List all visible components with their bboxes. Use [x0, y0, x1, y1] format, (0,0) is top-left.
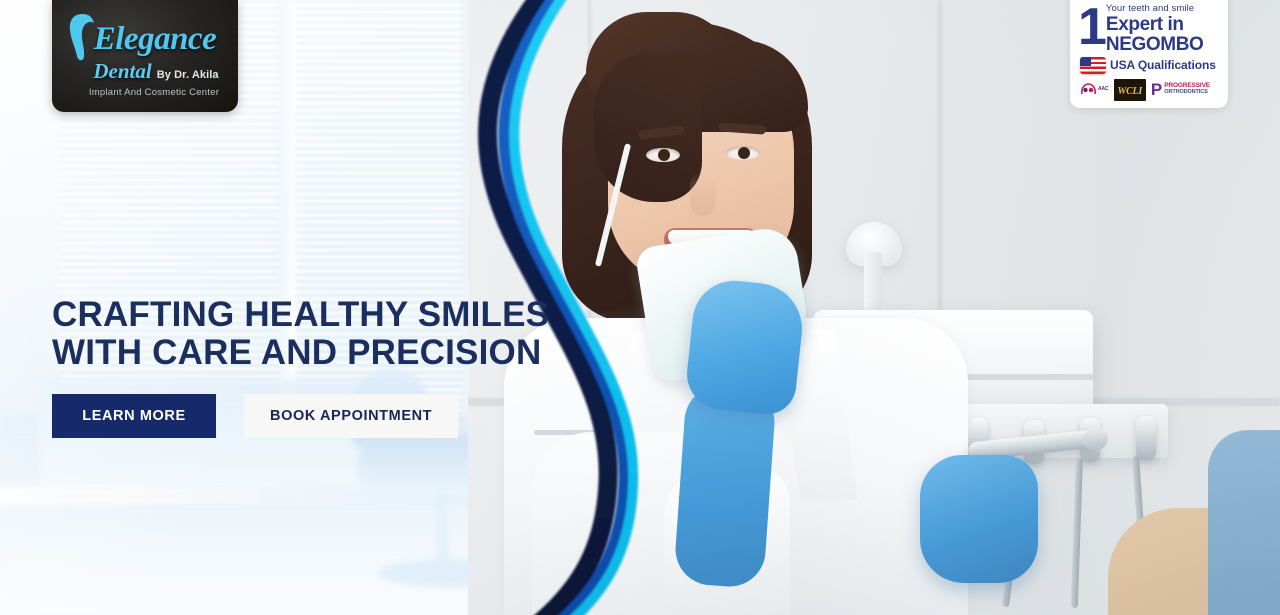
- badge-line-3: NEGOMBO: [1106, 35, 1203, 54]
- badge-line-1: Your teeth and smile: [1106, 4, 1203, 14]
- usa-qualifications-row: USA Qualifications: [1080, 57, 1220, 74]
- book-appointment-button[interactable]: BOOK APPOINTMENT: [244, 394, 458, 438]
- aaco-logo-text: AAC: [1098, 87, 1109, 92]
- progressive-orthodontics-logo: P PROGRESSIVE ORTHODONTICS: [1151, 81, 1210, 98]
- badge-line-2: Expert in: [1106, 15, 1203, 34]
- brand-logo[interactable]: Elegance Dental By Dr. Akila Implant And…: [52, 0, 238, 112]
- aaco-logo: AAC: [1080, 82, 1109, 97]
- usa-flag-icon: [1080, 57, 1106, 74]
- badge-text-lines: Your teeth and smile Expert in NEGOMBO: [1106, 4, 1203, 54]
- logo-inner: Elegance Dental By Dr. Akila Implant And…: [52, 0, 238, 112]
- wcli-logo: WCLI: [1114, 79, 1146, 101]
- progressive-text-block: PROGRESSIVE ORTHODONTICS: [1164, 83, 1210, 96]
- logo-primary-row: Elegance: [74, 19, 216, 61]
- logo-brand-text: Elegance: [94, 21, 216, 58]
- page-title: CRAFTING HEALTHY SMILES WITH CARE AND PR…: [52, 296, 612, 372]
- pupil-left: [658, 149, 670, 161]
- hero-section: Elegance Dental By Dr. Akila Implant And…: [0, 0, 1280, 615]
- cta-group: LEARN MORE BOOK APPOINTMENT: [52, 394, 612, 438]
- wcli-logo-text: WCLI: [1118, 86, 1142, 97]
- aaco-mark-icon: [1080, 82, 1097, 97]
- flag-canton: [1080, 57, 1091, 66]
- logo-sub-text: Dental: [93, 59, 151, 84]
- logo-secondary-row: Dental By Dr. Akila: [93, 59, 218, 84]
- progressive-line-2: ORTHODONTICS: [1164, 90, 1210, 96]
- gloved-hand-right: [920, 455, 1038, 583]
- tooth-icon: [66, 11, 98, 63]
- credentials-badge: 1 Your teeth and smile Expert in NEGOMBO…: [1070, 0, 1228, 108]
- accreditation-logos: AAC WCLI P PROGRESSIVE ORTHODONTICS: [1080, 79, 1220, 101]
- hair-sweep: [594, 52, 702, 202]
- nose: [690, 172, 716, 216]
- learn-more-button[interactable]: LEARN MORE: [52, 394, 216, 438]
- badge-rank-number: 1: [1078, 6, 1104, 49]
- logo-tagline: Implant And Cosmetic Center: [89, 87, 219, 98]
- hero-copy: CRAFTING HEALTHY SMILES WITH CARE AND PR…: [52, 296, 612, 438]
- usa-qualifications-label: USA Qualifications: [1110, 58, 1216, 72]
- progressive-p-mark: P: [1151, 81, 1162, 98]
- logo-byline: By Dr. Akila: [157, 69, 219, 81]
- pupil-right: [738, 147, 750, 159]
- patient-clothing: [1208, 430, 1280, 615]
- badge-headline-group: 1 Your teeth and smile Expert in NEGOMBO: [1078, 4, 1220, 54]
- gloved-hand-at-chin: [684, 277, 807, 418]
